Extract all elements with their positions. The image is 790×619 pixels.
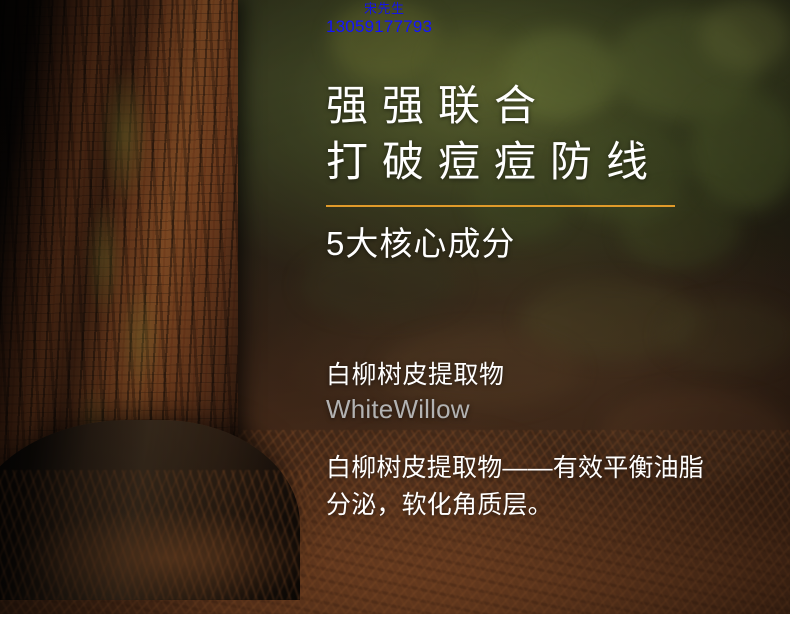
ingredient-description: 白柳树皮提取物——有效平衡油脂分泌，软化角质层。 bbox=[326, 450, 716, 524]
bottom-white-strip bbox=[0, 614, 790, 619]
headline-line-2: 打破痘痘防线 bbox=[326, 134, 662, 190]
poster-content: 宋先生 13059177793 强强联合 打破痘痘防线 5大核心成分 白柳树皮提… bbox=[0, 0, 790, 619]
headline-line-1: 强强联合 bbox=[326, 78, 662, 134]
ingredient-block: 白柳树皮提取物 WhiteWillow bbox=[326, 358, 505, 426]
contact-block: 宋先生 13059177793 bbox=[326, 2, 706, 36]
contact-name: 宋先生 bbox=[364, 2, 706, 17]
ingredient-name-en: WhiteWillow bbox=[326, 392, 505, 426]
subtitle: 5大核心成分 bbox=[326, 222, 515, 266]
contact-phone: 13059177793 bbox=[326, 17, 706, 36]
headline: 强强联合 打破痘痘防线 bbox=[326, 78, 662, 190]
orange-divider bbox=[326, 205, 675, 207]
product-poster: 宋先生 13059177793 强强联合 打破痘痘防线 5大核心成分 白柳树皮提… bbox=[0, 0, 790, 619]
ingredient-name-cn: 白柳树皮提取物 bbox=[326, 358, 505, 392]
